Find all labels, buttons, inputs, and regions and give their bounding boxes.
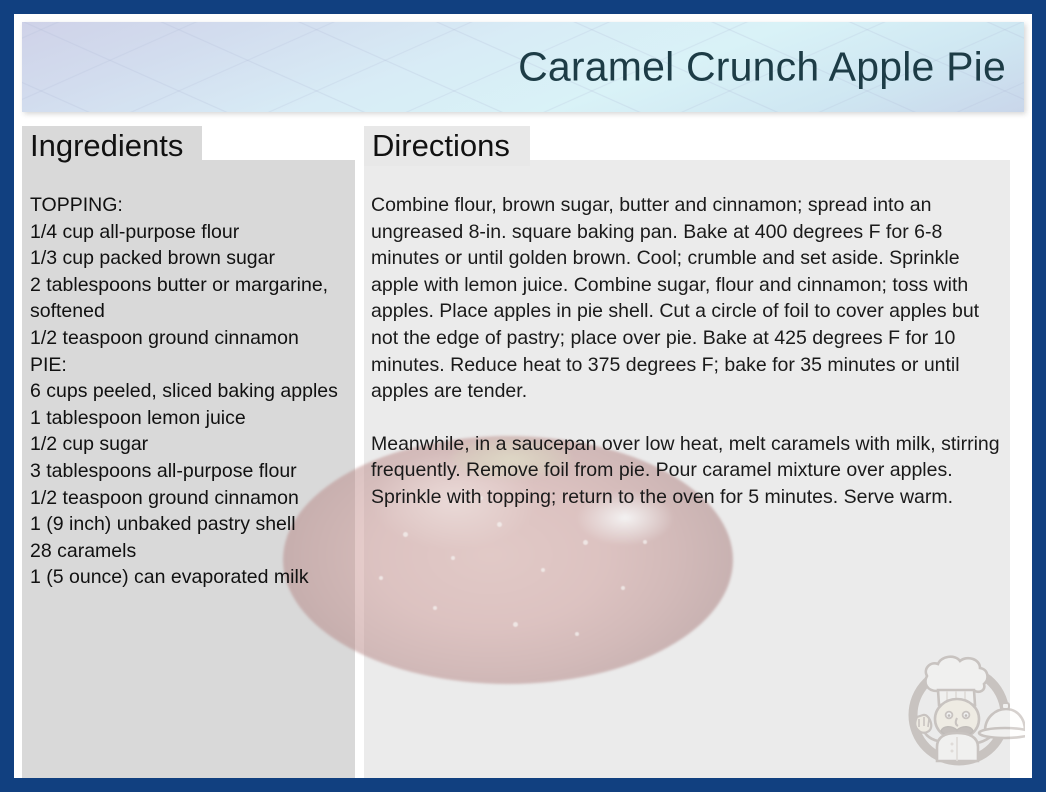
ingredients-list: TOPPING:1/4 cup all-purpose flour1/3 cup… [30,192,350,591]
ingredient-item: 1/2 cup sugar [30,431,350,458]
ingredients-heading: Ingredients [30,128,183,164]
ingredient-item: PIE: [30,352,350,379]
frame-border-top [0,0,1046,14]
page-title: Caramel Crunch Apple Pie [518,44,1006,91]
title-banner: Caramel Crunch Apple Pie [22,22,1024,112]
direction-paragraph: Combine flour, brown sugar, butter and c… [371,192,1009,405]
directions-body: Combine flour, brown sugar, butter and c… [371,192,1009,511]
frame-border-bottom [0,778,1046,792]
ingredient-item: 1 (9 inch) unbaked pastry shell [30,511,350,538]
ingredient-item: 2 tablespoons butter or margarine, softe… [30,272,350,325]
ingredient-item: 1/2 teaspoon ground cinnamon [30,325,350,352]
ingredient-item: TOPPING: [30,192,350,219]
ingredient-item: 1 tablespoon lemon juice [30,405,350,432]
direction-paragraph: Meanwhile, in a saucepan over low heat, … [371,431,1009,511]
directions-heading: Directions [372,128,510,164]
ingredient-item: 3 tablespoons all-purpose flour [30,458,350,485]
ingredient-item: 1/3 cup packed brown sugar [30,245,350,272]
ingredient-item: 1/2 teaspoon ground cinnamon [30,485,350,512]
frame-border-right [1032,0,1046,792]
recipe-card-page: Caramel Crunch Apple Pie Ingredients TOP… [0,0,1046,792]
ingredient-item: 28 caramels [30,538,350,565]
frame-border-left [0,0,14,792]
ingredient-item: 1/4 cup all-purpose flour [30,219,350,246]
ingredient-item: 1 (5 ounce) can evaporated milk [30,564,350,591]
ingredient-item: 6 cups peeled, sliced baking apples [30,378,350,405]
